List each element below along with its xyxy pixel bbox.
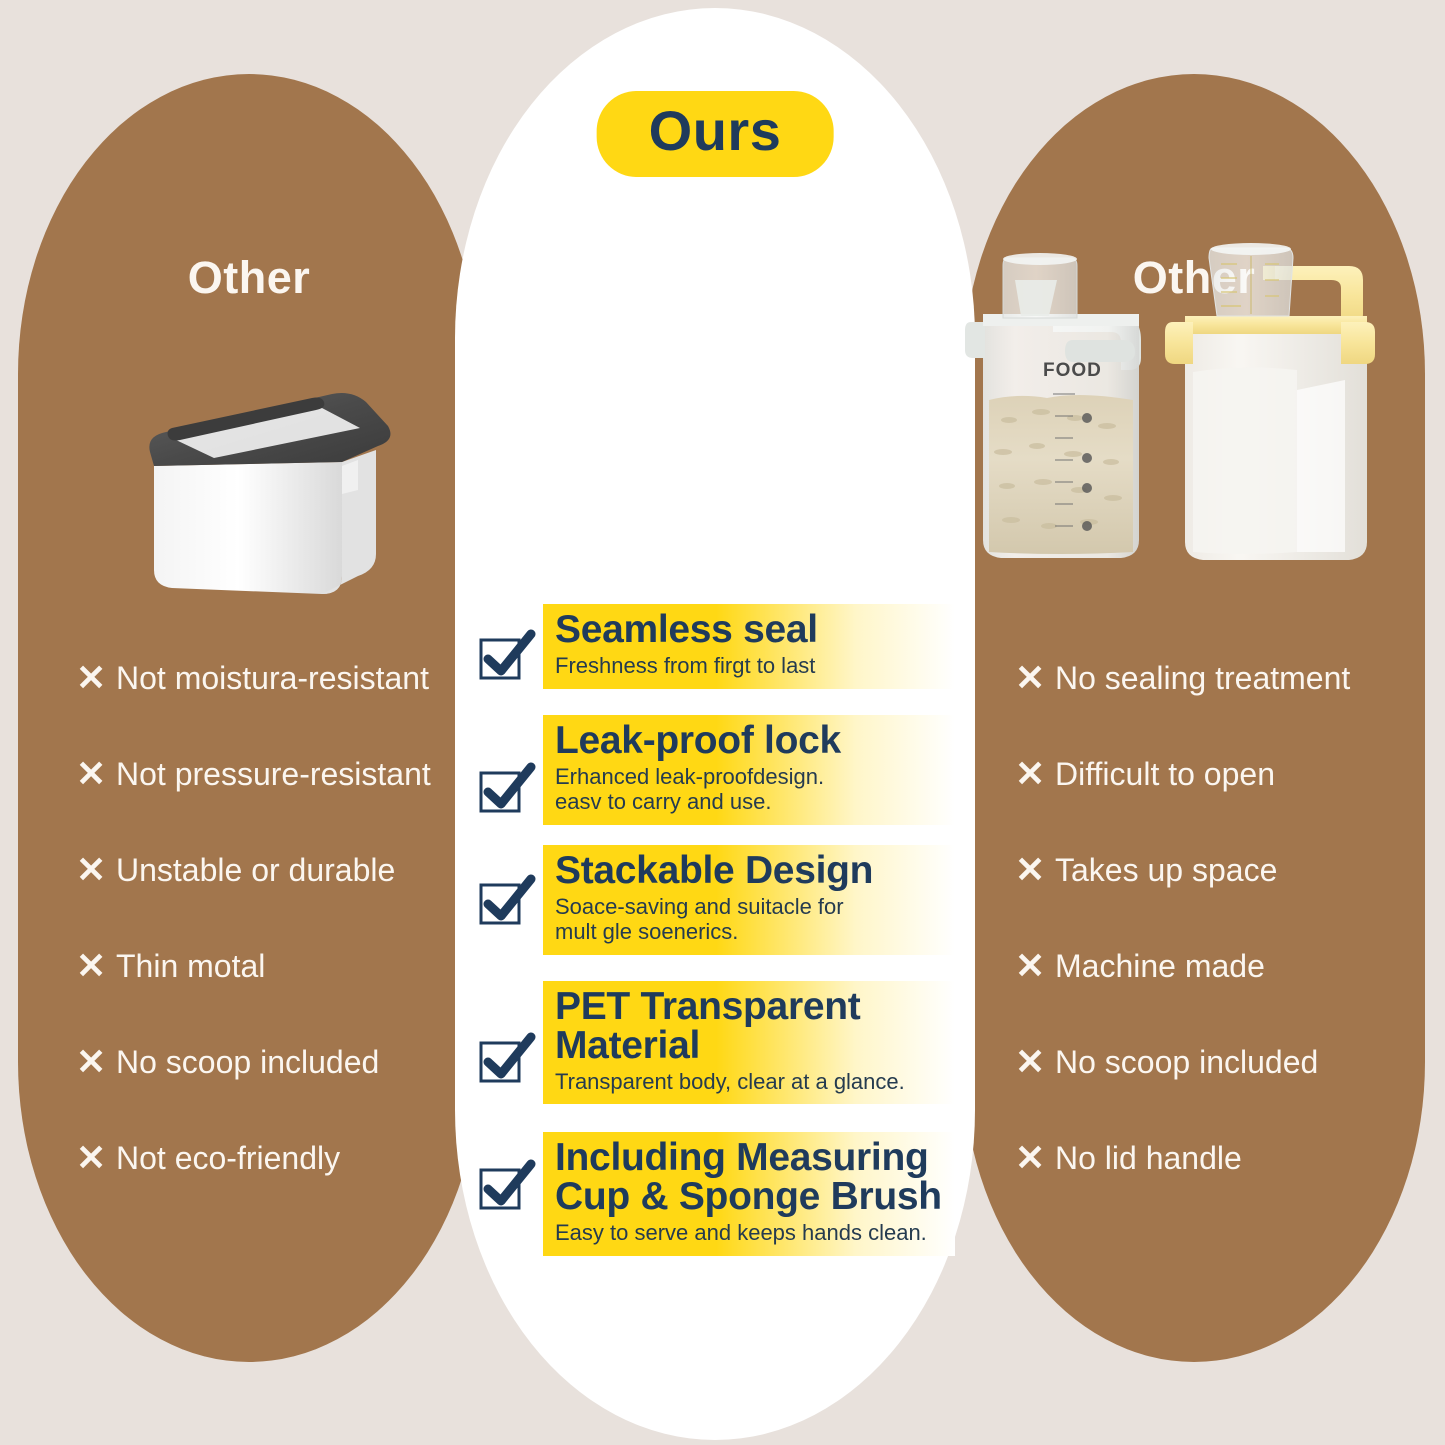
con-item: ✕ Thin motal [76, 918, 480, 1014]
feature-highlight: Stackable Design Soace-saving and suitac… [543, 845, 955, 955]
con-item: ✕ Not eco-friendly [76, 1110, 480, 1206]
feature-subtitle: Easy to serve and keeps hands clean. [555, 1220, 955, 1246]
con-item: ✕ Takes up space [1015, 822, 1425, 918]
cross-icon: ✕ [76, 660, 116, 696]
feature-item: Including Measuring Cup & Sponge Brush E… [477, 1132, 955, 1256]
feature-item: PET Transparent Material Transparent bod… [477, 981, 955, 1105]
checkbox-checked-icon [477, 1158, 537, 1214]
cross-icon: ✕ [76, 948, 116, 984]
feature-subtitle: Freshness from firgt to last [555, 653, 955, 679]
features-list: Seamless seal Freshness from firgt to la… [477, 604, 955, 1270]
cross-icon: ✕ [1015, 852, 1055, 888]
con-label: Unstable or durable [116, 852, 395, 889]
cross-icon: ✕ [1015, 660, 1055, 696]
feature-title: Including Measuring Cup & Sponge Brush [555, 1138, 955, 1216]
con-label: No sealing treatment [1055, 660, 1350, 697]
con-item: ✕ Machine made [1015, 918, 1425, 1014]
cons-list-left: ✕ Not moistura-resistant ✕ Not pressure-… [18, 630, 480, 1206]
feature-title: Seamless seal [555, 610, 955, 649]
feature-title: Leak-proof lock [555, 721, 955, 760]
con-item: ✕ Difficult to open [1015, 726, 1425, 822]
checkbox-checked-icon [477, 628, 537, 684]
cross-icon: ✕ [76, 852, 116, 888]
feature-title: Stackable Design [555, 851, 955, 890]
feature-highlight: Including Measuring Cup & Sponge Brush E… [543, 1132, 955, 1256]
con-item: ✕ No lid handle [1015, 1110, 1425, 1206]
cons-list-right: ✕ No sealing treatment ✕ Difficult to op… [963, 630, 1425, 1206]
comparison-infographic: Other [0, 0, 1445, 1445]
cross-icon: ✕ [1015, 756, 1055, 792]
feature-highlight: Leak-proof lock Erhanced leak-proofdesig… [543, 715, 955, 825]
feature-subtitle: Erhanced leak-proofdesign. easv to carry… [555, 764, 955, 815]
con-label: Not pressure-resistant [116, 756, 431, 793]
cross-icon: ✕ [1015, 948, 1055, 984]
cross-icon: ✕ [1015, 1140, 1055, 1176]
feature-item: Leak-proof lock Erhanced leak-proofdesig… [477, 715, 955, 825]
con-item: ✕ No sealing treatment [1015, 630, 1425, 726]
con-label: No scoop included [1055, 1044, 1318, 1081]
con-item: ✕ Not moistura-resistant [76, 630, 480, 726]
ours-badge: Ours [597, 91, 834, 177]
feature-item: Seamless seal Freshness from firgt to la… [477, 604, 955, 689]
con-item: ✕ No scoop included [1015, 1014, 1425, 1110]
con-item: ✕ No scoop included [76, 1014, 480, 1110]
our-product-image: FOOD [945, 230, 1385, 575]
feature-item: Stackable Design Soace-saving and suitac… [477, 845, 955, 955]
con-label: Not eco-friendly [116, 1140, 340, 1177]
competitor-product-image-left [136, 374, 408, 604]
con-label: Machine made [1055, 948, 1265, 985]
checkbox-checked-icon [477, 761, 537, 817]
con-label: Difficult to open [1055, 756, 1275, 793]
con-item: ✕ Not pressure-resistant [76, 726, 480, 822]
cross-icon: ✕ [76, 756, 116, 792]
ours-column: Ours [455, 8, 975, 1440]
feature-subtitle: Soace-saving and suitacle for mult gle s… [555, 894, 955, 945]
con-label: Thin motal [116, 948, 265, 985]
cross-icon: ✕ [76, 1140, 116, 1176]
other-heading-left: Other [18, 252, 480, 304]
product-label-text: FOOD [1043, 360, 1102, 381]
con-label: No lid handle [1055, 1140, 1242, 1177]
cross-icon: ✕ [1015, 1044, 1055, 1080]
checkbox-checked-icon [477, 1031, 537, 1087]
con-label: Takes up space [1055, 852, 1277, 889]
con-label: No scoop included [116, 1044, 379, 1081]
con-label: Not moistura-resistant [116, 660, 429, 697]
feature-highlight: Seamless seal Freshness from firgt to la… [543, 604, 955, 689]
checkbox-checked-icon [477, 873, 537, 929]
con-item: ✕ Unstable or durable [76, 822, 480, 918]
feature-subtitle: Transparent body, clear at a glance. [555, 1069, 955, 1095]
cross-icon: ✕ [76, 1044, 116, 1080]
other-column-left: Other [18, 74, 480, 1362]
feature-title: PET Transparent Material [555, 987, 955, 1065]
feature-highlight: PET Transparent Material Transparent bod… [543, 981, 955, 1105]
